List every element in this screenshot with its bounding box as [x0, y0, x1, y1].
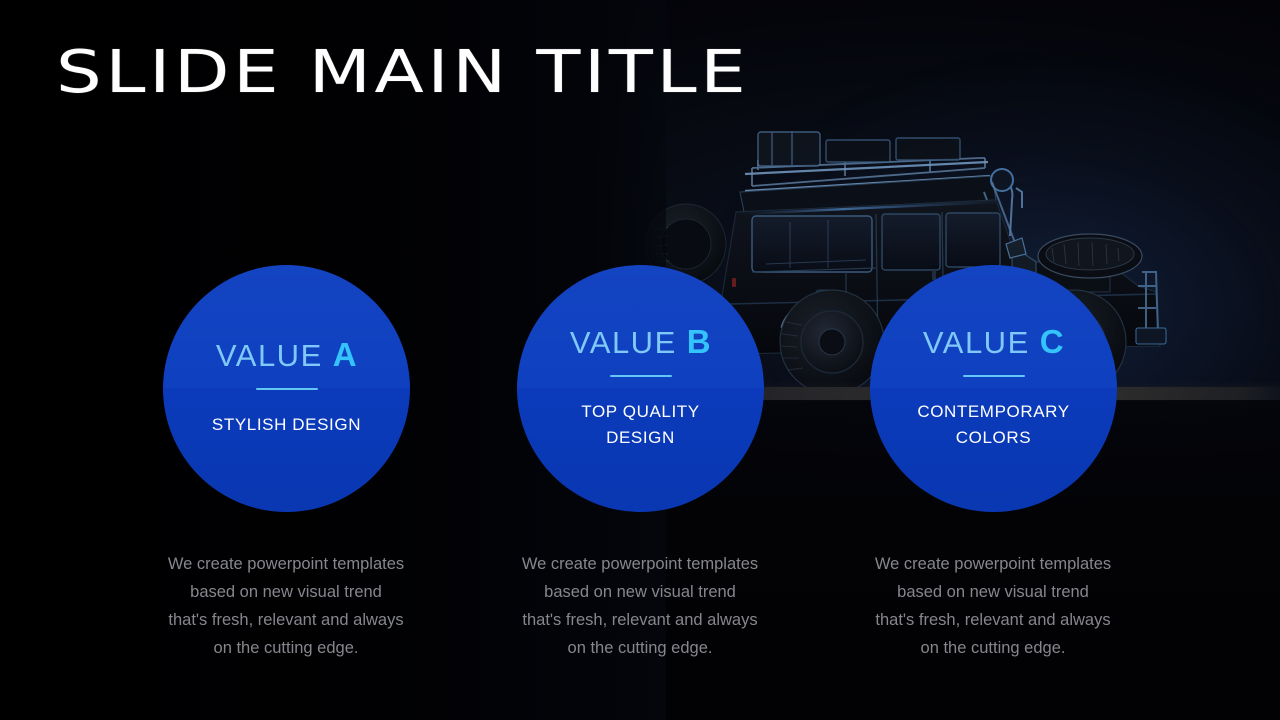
value-heading-c: VALUE C — [923, 323, 1064, 361]
body-line: based on new visual trend — [121, 578, 451, 606]
value-circle-c[interactable]: VALUE C CONTEMPORARY COLORS — [870, 265, 1117, 512]
presentation-slide: SLIDE MAIN TITLE VALUE A STYLISH DESIGN … — [0, 0, 1280, 720]
body-text-c: We create powerpoint templates based on … — [828, 550, 1158, 662]
value-letter-b: B — [687, 323, 711, 361]
value-subtitle-b: TOP QUALITY DESIGN — [581, 399, 699, 450]
body-line: We create powerpoint templates — [828, 550, 1158, 578]
value-subtitle-line: CONTEMPORARY — [917, 399, 1069, 425]
value-letter-c: C — [1040, 323, 1064, 361]
value-heading-a: VALUE A — [216, 336, 357, 374]
page-title: SLIDE MAIN TITLE — [56, 42, 749, 101]
body-line: that's fresh, relevant and always — [828, 606, 1158, 634]
value-subtitle-a: STYLISH DESIGN — [212, 412, 361, 438]
value-circle-b[interactable]: VALUE B TOP QUALITY DESIGN — [517, 265, 764, 512]
value-subtitle-line: STYLISH DESIGN — [212, 412, 361, 438]
divider-a — [256, 388, 318, 390]
body-line: We create powerpoint templates — [475, 550, 805, 578]
body-text-b: We create powerpoint templates based on … — [475, 550, 805, 662]
body-line: based on new visual trend — [828, 578, 1158, 606]
body-line: based on new visual trend — [475, 578, 805, 606]
body-line: We create powerpoint templates — [121, 550, 451, 578]
body-text-a: We create powerpoint templates based on … — [121, 550, 451, 662]
value-letter-a: A — [333, 336, 357, 374]
value-word-b: VALUE — [570, 325, 677, 361]
value-subtitle-c: CONTEMPORARY COLORS — [917, 399, 1069, 450]
value-word-c: VALUE — [923, 325, 1030, 361]
divider-c — [963, 375, 1025, 377]
body-line: on the cutting edge. — [828, 634, 1158, 662]
value-subtitle-line: COLORS — [917, 425, 1069, 451]
value-subtitle-line: DESIGN — [581, 425, 699, 451]
divider-b — [610, 375, 672, 377]
body-line: that's fresh, relevant and always — [475, 606, 805, 634]
body-line: that's fresh, relevant and always — [121, 606, 451, 634]
value-subtitle-line: TOP QUALITY — [581, 399, 699, 425]
value-heading-b: VALUE B — [570, 323, 711, 361]
value-circle-a[interactable]: VALUE A STYLISH DESIGN — [163, 265, 410, 512]
body-line: on the cutting edge. — [121, 634, 451, 662]
value-word-a: VALUE — [216, 338, 323, 374]
body-line: on the cutting edge. — [475, 634, 805, 662]
